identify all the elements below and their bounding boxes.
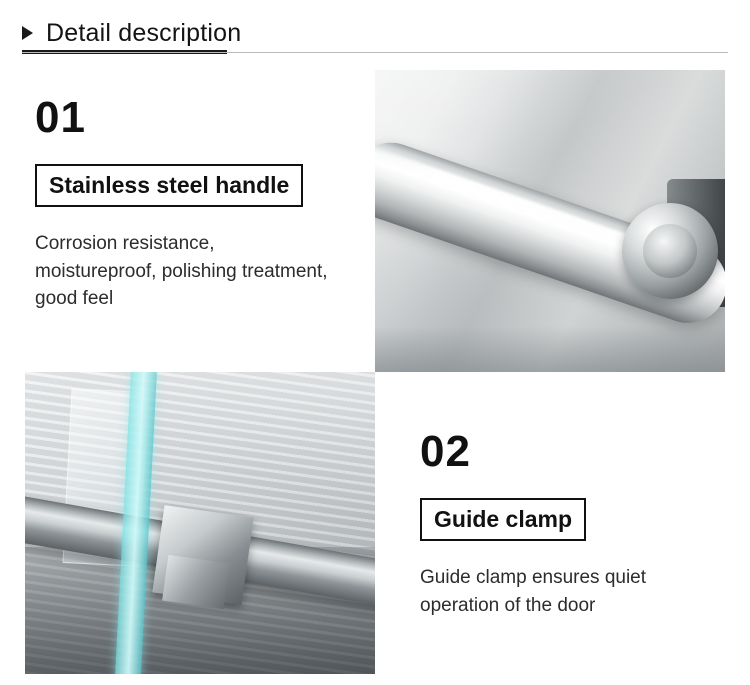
handle-end-cap-shape xyxy=(622,203,718,299)
page-title: Detail description xyxy=(46,21,241,46)
section-01-number: 01 xyxy=(35,96,355,140)
play-triangle-icon xyxy=(22,26,33,40)
section-01-description: Corrosion resistance, moistureproof, pol… xyxy=(35,230,335,313)
header: Detail description xyxy=(22,12,728,54)
guide-clamp-photo xyxy=(25,372,375,674)
section-02-description: Guide clamp ensures quiet operation of t… xyxy=(420,564,720,619)
section-01-text: 01 Stainless steel handle Corrosion resi… xyxy=(35,96,355,313)
handle-photo-shadow xyxy=(375,326,725,372)
section-01-title: Stainless steel handle xyxy=(35,164,303,207)
section-02-title: Guide clamp xyxy=(420,498,586,541)
stainless-steel-handle-photo xyxy=(375,70,725,372)
handle-end-cap-inner xyxy=(643,224,697,278)
clamp-photo-sheen xyxy=(25,372,375,674)
section-02-text: 02 Guide clamp Guide clamp ensures quiet… xyxy=(420,430,730,619)
header-underline-hairline xyxy=(22,52,728,53)
section-02-number: 02 xyxy=(420,430,730,474)
detail-description-page: Detail description 01 Stainless steel ha… xyxy=(0,0,750,685)
